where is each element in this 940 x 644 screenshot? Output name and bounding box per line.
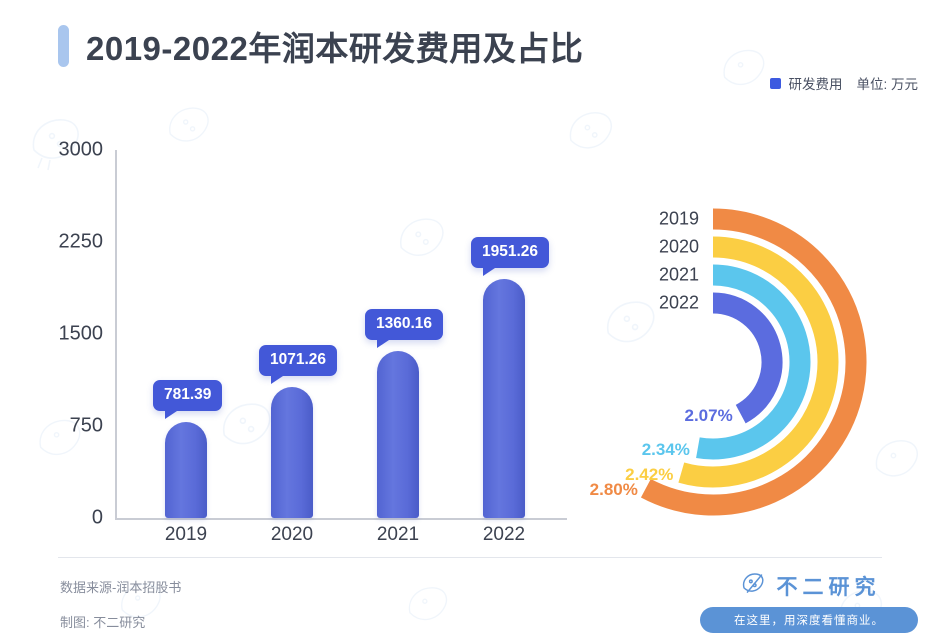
footer-divider [58, 557, 882, 558]
bar-chart: 0750150022503000 2019202020212022 781.39… [0, 0, 580, 560]
radial-percent-label: 2.42% [585, 465, 673, 485]
x-tick-label: 2019 [165, 524, 207, 546]
x-tick-label: 2021 [377, 524, 419, 546]
bar-value-label: 1071.26 [259, 345, 337, 376]
bar[interactable] [377, 351, 419, 518]
bar[interactable] [165, 422, 207, 518]
data-source-text: 数据来源-润本招股书 [60, 577, 181, 596]
brand-name-text: 不二研究 [777, 571, 881, 601]
chart-credit-text: 制图: 不二研究 [60, 612, 145, 631]
x-axis-line [115, 518, 567, 520]
y-tick-label: 2250 [3, 231, 103, 254]
legend-unit-label: 单位: 万元 [856, 73, 918, 93]
x-tick-label: 2020 [271, 524, 313, 546]
chart-legend: 研发费用 单位: 万元 [770, 73, 918, 93]
watermark [400, 578, 458, 636]
legend-swatch-icon [770, 78, 781, 89]
radial-year-label: 2020 [595, 237, 699, 258]
brand-tagline: 在这里，用深度看懂商业。 [700, 607, 918, 633]
y-axis-line [115, 150, 117, 519]
y-tick-label: 750 [3, 415, 103, 438]
radial-year-label: 2019 [595, 209, 699, 230]
radial-chart: 20192.80%20202.42%20212.34%20222.07% [586, 178, 940, 550]
bar[interactable] [271, 387, 313, 518]
bar-value-label: 1951.26 [471, 237, 549, 268]
y-tick-label: 3000 [3, 139, 103, 162]
y-axis-ticks: 0750150022503000 [0, 0, 103, 560]
legend-series-label: 研发费用 [788, 73, 842, 93]
radial-year-label: 2022 [595, 293, 699, 314]
radial-percent-label: 2.34% [602, 440, 690, 460]
brand-logo-icon [738, 569, 768, 604]
y-tick-label: 1500 [3, 323, 103, 346]
bar[interactable] [483, 279, 525, 518]
radial-percent-label: 2.07% [645, 406, 733, 426]
watermark [714, 40, 776, 102]
bar-value-label: 781.39 [153, 380, 222, 411]
y-tick-label: 0 [3, 507, 103, 530]
brand-block: 不二研究 在这里，用深度看懂商业。 [700, 570, 918, 638]
radial-arcs [586, 178, 940, 550]
radial-year-label: 2021 [595, 265, 699, 286]
x-tick-label: 2022 [483, 524, 525, 546]
radial-arc[interactable] [713, 303, 772, 414]
bar-value-label: 1360.16 [365, 309, 443, 340]
